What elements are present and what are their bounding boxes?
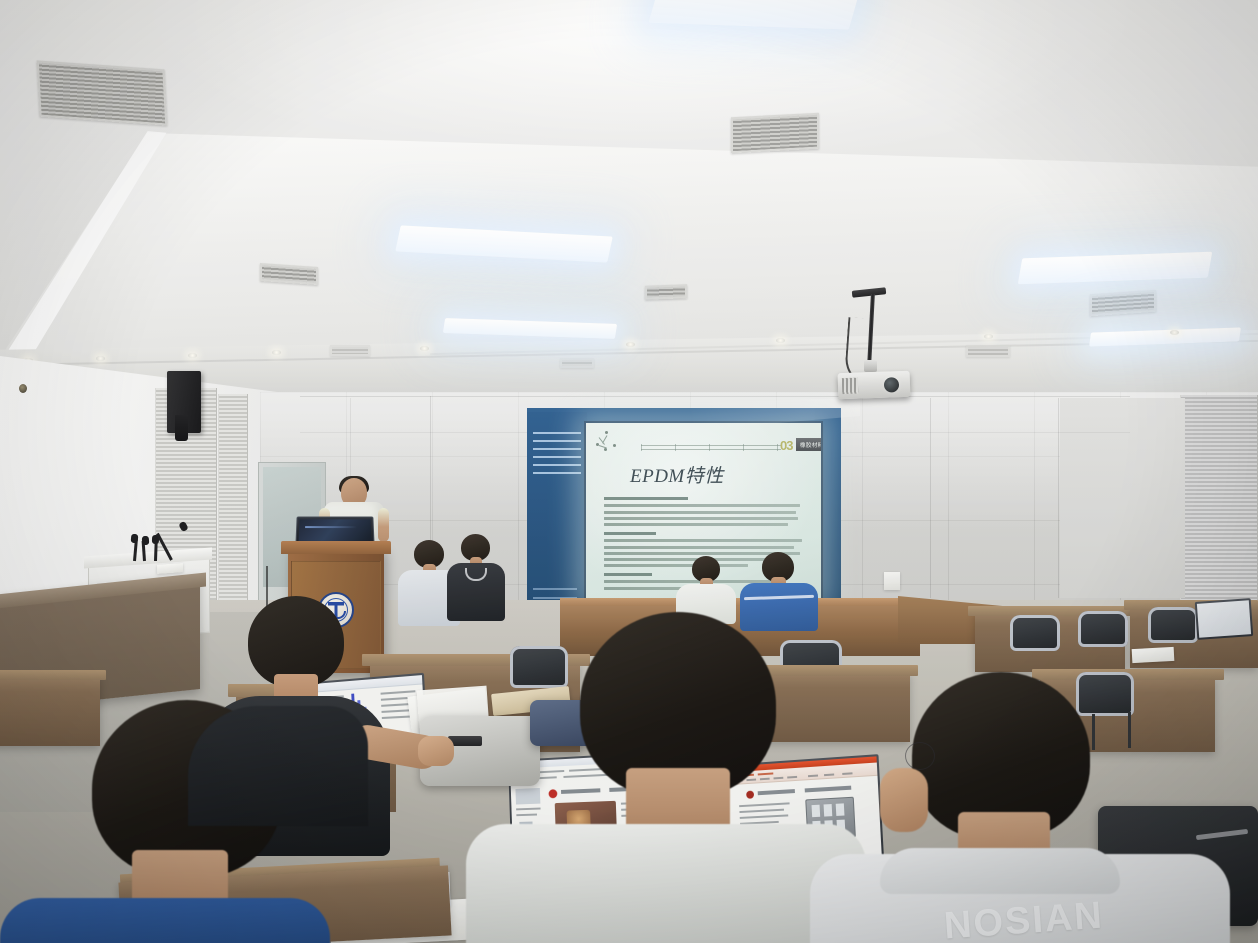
slide-section-label: 橡胶材料概述 — [800, 440, 821, 449]
molecule-icon — [596, 431, 618, 451]
chair[interactable] — [1078, 611, 1128, 647]
laptop-back-right[interactable] — [1195, 598, 1254, 640]
wall-seam — [1058, 398, 1059, 598]
counter-paper — [157, 563, 183, 574]
acoustic-panel — [1180, 395, 1258, 605]
wall-plate — [884, 572, 900, 590]
downlight-icon — [272, 350, 281, 355]
hvac-vent-icon — [645, 284, 687, 299]
slide-section-number: 03 — [780, 438, 792, 453]
attendee-hand — [418, 736, 454, 766]
hvac-vent-icon — [966, 345, 1010, 357]
presenter-laptop-content — [305, 526, 357, 528]
downlight-icon — [984, 334, 993, 339]
attendee-fg-gray-tee — [500, 612, 830, 943]
hvac-vent-icon — [731, 113, 819, 154]
lecture-hall-photo: 03 橡胶材料概述 EPDM特性 — [0, 0, 1258, 943]
wall-speaker — [167, 371, 201, 433]
projector-lens-icon — [884, 377, 900, 393]
chair[interactable] — [1148, 607, 1198, 643]
downlight-icon — [776, 338, 785, 343]
presenter-laptop-screen — [299, 519, 372, 543]
desk-top — [0, 670, 106, 680]
projector-mount-collar — [864, 360, 877, 372]
downlight-icon — [96, 356, 105, 361]
hvac-vent-icon — [330, 345, 370, 356]
downlight-icon — [420, 346, 429, 351]
projector — [838, 371, 911, 399]
attendee-hand — [880, 768, 928, 832]
hvac-vent-icon — [1090, 290, 1156, 317]
downlight-icon — [1170, 330, 1179, 335]
attendee-front-lanyard — [447, 534, 505, 618]
downlight-icon — [626, 342, 635, 347]
wall-seam — [930, 398, 931, 598]
eyeglasses — [905, 742, 935, 770]
microphone-head-icon — [142, 536, 150, 545]
lectern-top — [281, 541, 391, 554]
handout-paper — [1132, 647, 1175, 663]
attendee-fg-dark — [188, 686, 368, 826]
hoodie-hood — [880, 848, 1120, 894]
right-wall-panel — [1060, 398, 1185, 598]
backdrop-stripes — [533, 432, 581, 478]
wall-seam — [300, 396, 1130, 397]
attendee-stage-white — [676, 556, 736, 616]
chair[interactable] — [1010, 615, 1060, 651]
projector-vent-icon — [842, 378, 859, 395]
downlight-icon — [188, 353, 197, 358]
slide-header-rule — [641, 443, 781, 453]
microphone-head-icon — [131, 534, 139, 544]
presenter-arm-right — [378, 508, 389, 542]
hvac-vent-icon — [37, 60, 168, 125]
hvac-vent-icon — [560, 358, 594, 368]
speaker-cone-icon — [19, 384, 27, 393]
slide-section-chip: 橡胶材料概述 — [796, 438, 821, 451]
slide-title: EPDM特性 — [630, 461, 724, 488]
